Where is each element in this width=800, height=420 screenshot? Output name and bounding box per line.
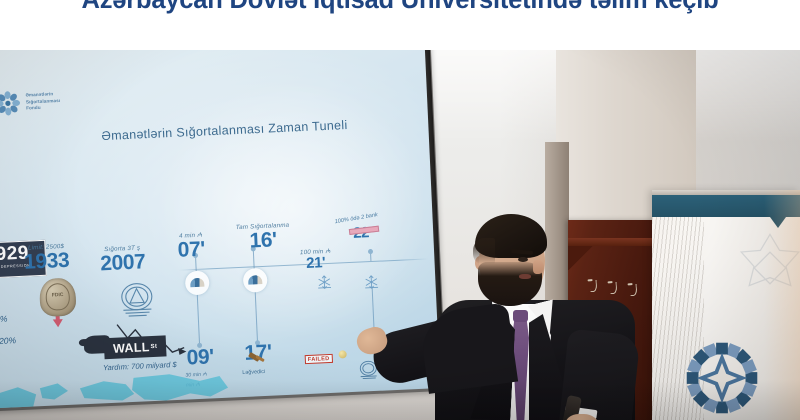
timeline-node-21: 100 min ₼ 21' [300, 246, 332, 272]
wall-street-suffix: St [150, 343, 157, 349]
failed-status-badge: FAILED [305, 354, 333, 364]
floor-shadow [0, 380, 800, 420]
milestone-1933: Limit: 2500$ 1933 [23, 243, 69, 274]
page-title: Azərbaycan Dövlət İqtisad Universitetind… [0, 0, 800, 15]
presenter-eye [518, 257, 528, 262]
wall-street-badge: WALL St [104, 335, 167, 359]
projector-glare [146, 70, 438, 350]
coin-icon [338, 350, 346, 358]
presenter-mouth [519, 274, 531, 279]
timeline-node-16-year: 16' [236, 229, 290, 253]
presenter-nose [533, 260, 544, 274]
presenter-hair-fade [473, 238, 495, 264]
milestone-1933-year: 1933 [24, 250, 70, 274]
slide-logo-text: Əmanətlərin Sığortalanması Fondu [25, 91, 60, 113]
wall-street-text: WALL [113, 340, 150, 356]
slide-logo: Əmanətlərin Sığortalanması Fondu [0, 88, 61, 117]
milestone-2007-year: 2007 [100, 251, 146, 275]
deposit-insurance-fund-logo-icon [0, 90, 21, 117]
presenter-tie-knot [513, 310, 528, 322]
screenshot-root: Azərbaycan Dövlət İqtisad Universitetind… [0, 0, 800, 420]
snowflake-icon [363, 273, 380, 292]
timeline-node-16: Tam Sığortalanma 16' [236, 222, 291, 253]
stat-unemployment: İşsizlik 20% [0, 335, 16, 347]
headline-band: Azərbaycan Dövlət İqtisad Universitetind… [0, 0, 800, 50]
timeline-node-21-year: 21' [300, 255, 331, 272]
milestone-2007: Sığorta 3T ş 2007 [99, 244, 145, 275]
timeline-node-07: 4 min ₼ 07' [177, 230, 206, 262]
article-photo: Əmanətlərin Sığortalanması Fondu Əmanətl… [0, 22, 800, 420]
timeline-node-07-year: 07' [177, 239, 205, 262]
snowflake-icon [316, 273, 333, 292]
gavel-icon [248, 352, 265, 367]
emblem-seal-icon [116, 279, 158, 319]
stat-gdp: ÜDM 30% [0, 314, 8, 326]
fdic-seal-icon: FDIC [39, 277, 77, 317]
liquidator-label: Ləğvedici [242, 369, 265, 376]
